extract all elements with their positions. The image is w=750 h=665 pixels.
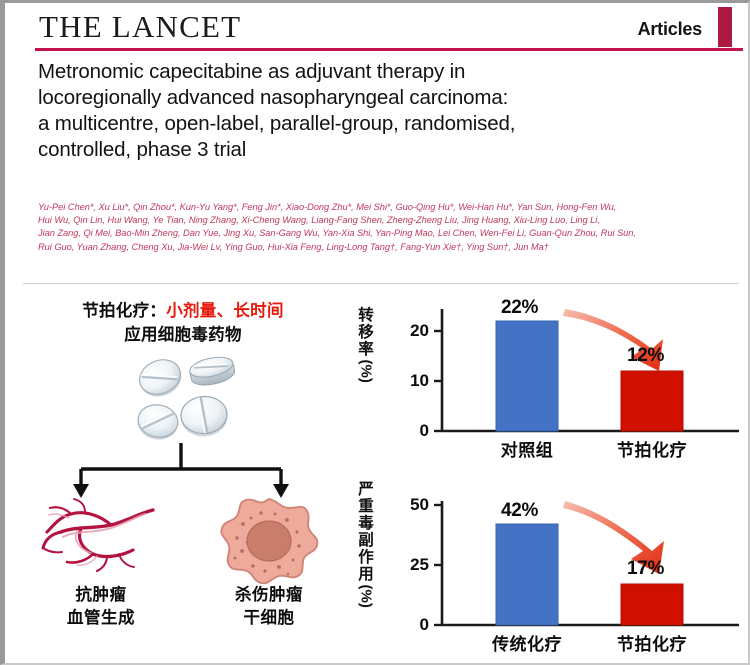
- tumor-stem-cell-icon: [213, 496, 323, 586]
- x-category-label: 节拍化疗: [592, 630, 712, 655]
- branch-label-stemcell: 杀伤肿瘤 干细胞: [199, 583, 339, 629]
- y-tick: 0: [391, 615, 429, 635]
- illustration-panel: 节拍化疗：小剂量、长时间 应用细胞毒药物: [23, 291, 343, 663]
- x-category-label: 对照组: [467, 436, 587, 461]
- heading-line2: 应用细胞毒药物: [23, 323, 343, 347]
- section-accent-bar: [718, 7, 732, 47]
- branch-label-line: 血管生成: [31, 606, 171, 629]
- title-line: Metronomic capecitabine as adjuvant ther…: [38, 59, 728, 85]
- graphical-abstract-page: THE LANCET Articles Metronomic capecitab…: [0, 0, 750, 665]
- severe-toxicity-chart: 严 重 毒 副 作 用 (%): [353, 477, 743, 663]
- y-tick: 50: [391, 495, 429, 515]
- branch-label-line: 干细胞: [199, 606, 339, 629]
- author-line: Jian Zang, Qi Mei, Bao-Min Zheng, Dan Yu…: [38, 227, 738, 240]
- branch-label-line: 杀伤肿瘤: [199, 583, 339, 606]
- pills-icon: [128, 353, 253, 445]
- metastasis-rate-chart: 转 移 率 (%): [353, 295, 743, 475]
- y-tick: 10: [391, 371, 429, 391]
- x-category-label: 节拍化疗: [592, 436, 712, 461]
- title-line: controlled, phase 3 trial: [38, 137, 728, 163]
- page-title: Metronomic capecitabine as adjuvant ther…: [38, 59, 728, 163]
- illustration-heading: 节拍化疗：小剂量、长时间 应用细胞毒药物: [23, 299, 343, 347]
- branch-label-antiangiogenic: 抗肿瘤 血管生成: [31, 583, 171, 629]
- author-line: Yu-Pei Chen*, Xu Liu*, Qin Zhou*, Kun-Yu…: [38, 201, 738, 214]
- bar-value-label: 42%: [501, 500, 538, 522]
- heading-prefix: 节拍化疗：: [82, 301, 166, 320]
- author-list: Yu-Pei Chen*, Xu Liu*, Qin Zhou*, Kun-Yu…: [38, 201, 738, 254]
- title-line: locoregionally advanced nasopharyngeal c…: [38, 85, 728, 111]
- title-line: a multicentre, open-label, parallel-grou…: [38, 111, 728, 137]
- section-label: Articles: [638, 19, 702, 40]
- y-tick: 25: [391, 555, 429, 575]
- branch-label-line: 抗肿瘤: [31, 583, 171, 606]
- heading-highlight: 小剂量、长时间: [166, 301, 284, 320]
- bar-value-label: 17%: [627, 558, 664, 580]
- author-line: Rui Guo, Yuan Zhang, Cheng Xu, Jia-Wei L…: [38, 241, 738, 254]
- y-tick: 20: [391, 321, 429, 341]
- y-tick: 0: [391, 421, 429, 441]
- x-category-label: 传统化疗: [467, 630, 587, 655]
- author-line: Hui Wu, Qin Lin, Hui Wang, Ye Tian, Ning…: [38, 214, 738, 227]
- blood-vessel-icon: [41, 496, 159, 574]
- journal-header: THE LANCET Articles: [5, 3, 750, 55]
- header-rule: [35, 48, 743, 51]
- bar-value-label: 12%: [627, 345, 664, 367]
- panel-divider: [23, 283, 739, 284]
- bar-value-label: 22%: [501, 297, 538, 319]
- journal-logo: THE LANCET: [39, 9, 241, 45]
